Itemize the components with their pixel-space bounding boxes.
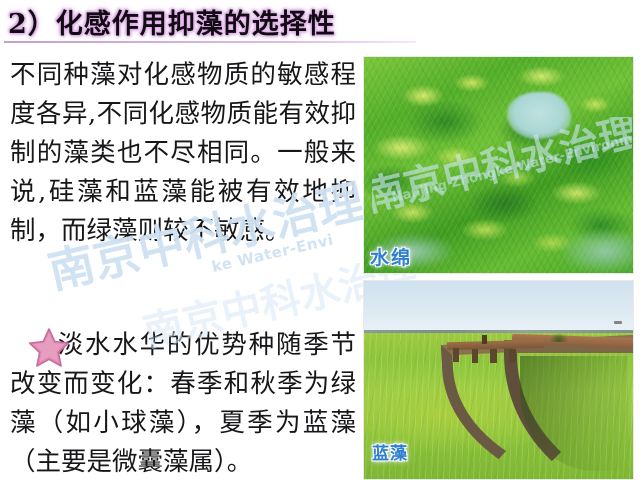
photo-column: 南京中科水治理 Nanjing Zhongke Water-Environmen…	[363, 56, 635, 478]
pier-piling	[472, 349, 479, 363]
distant-boat	[614, 321, 622, 324]
sky-region	[364, 281, 633, 332]
shoreline-shrub	[550, 333, 569, 342]
photo-caption-cyanobacteria: 蓝藻	[372, 439, 408, 464]
title-underline-divider	[4, 41, 416, 43]
slide-title-bar: 2）化感作用抑藻的选择性	[0, 2, 440, 42]
photo-top-content: 南京中科水治理 Nanjing Zhongke Water-Environmen…	[364, 57, 633, 273]
page-title: 2）化感作用抑藻的选择性	[8, 2, 336, 41]
pier-piling	[453, 348, 460, 362]
star-bullet-icon	[28, 327, 70, 367]
cyanobacteria-bloom-lake-photo: 蓝藻	[363, 280, 634, 480]
slide-canvas: 2）化感作用抑藻的选择性 不同种藻对化感物质的敏感程度各异,不同化感物质能有效抑…	[0, 0, 640, 480]
pier-piling	[490, 349, 497, 363]
spirogyra-algae-mat-photo: 南京中科水治理 Nanjing Zhongke Water-Environmen…	[363, 56, 634, 274]
open-water-patch-lower-right	[563, 230, 633, 273]
body-text-column: 不同种藻对化感物质的敏感程度各异,不同化感物质能有效抑制的藻类也不尽相同。一般来…	[6, 50, 358, 478]
pier-post	[482, 335, 486, 344]
open-water-patch	[507, 92, 572, 140]
paragraph-sensitivity: 不同种藻对化感物质的敏感程度各异,不同化感物质能有效抑制的藻类也不尽相同。一般来…	[10, 56, 356, 251]
pier-piling	[509, 349, 516, 363]
photo-caption-spirogyra: 水绵	[370, 243, 412, 270]
